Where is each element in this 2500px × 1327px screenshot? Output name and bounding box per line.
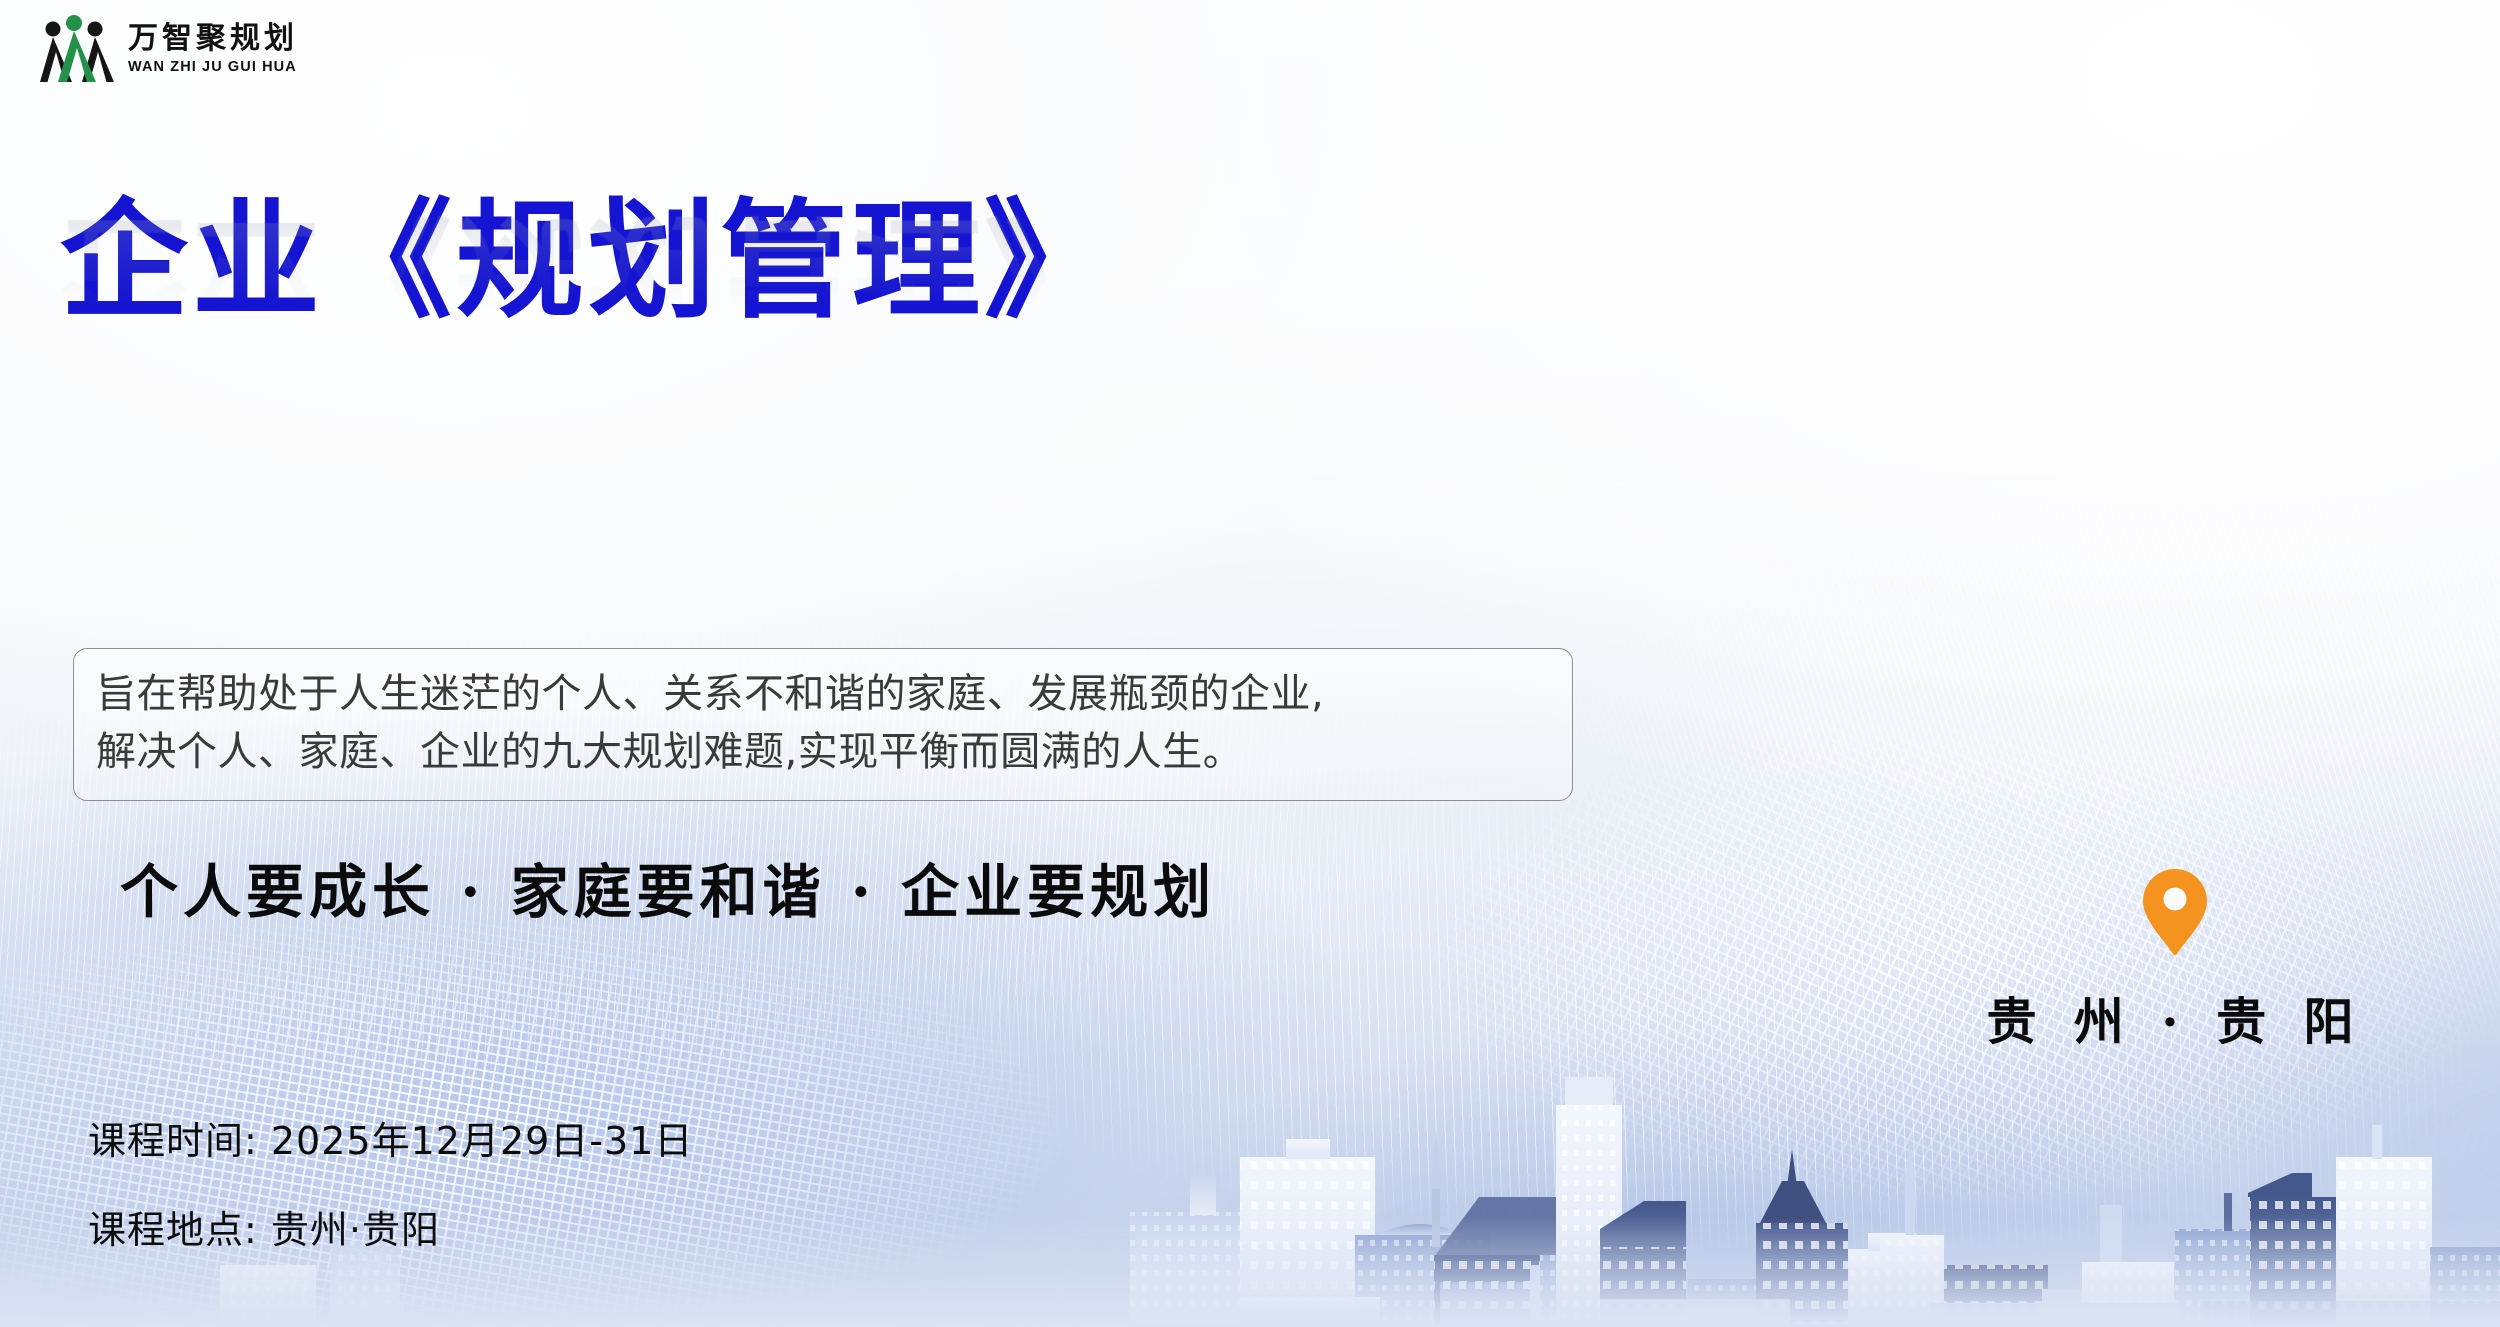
map-pin-icon bbox=[2142, 868, 2208, 956]
description-line-1: 旨在帮助处于人生迷茫的个人、关系不和谐的家庭、发展瓶颈的企业, bbox=[96, 665, 1550, 723]
brand-logo-text: 万智聚规划 WAN ZHI JU GUI HUA bbox=[128, 22, 298, 76]
brand-logo[interactable]: 万智聚规划 WAN ZHI JU GUI HUA bbox=[34, 14, 298, 84]
course-time: 课程时间: 2025年12月29日-31日 bbox=[88, 1110, 693, 1165]
three-people-logo-icon bbox=[34, 14, 114, 84]
location-label: 贵 州 · 贵 阳 bbox=[1960, 982, 2390, 1054]
description-box: 旨在帮助处于人生迷茫的个人、关系不和谐的家庭、发展瓶颈的企业, 解决个人、家庭、… bbox=[73, 648, 1573, 801]
description-line-2: 解决个人、家庭、企业的九大规划难题,实现平衡而圆满的人生。 bbox=[96, 723, 1550, 781]
poster-canvas: 万智聚规划 WAN ZHI JU GUI HUA 企业《规划管理》 企业《规划管… bbox=[0, 0, 2500, 1327]
hero-slogan: 个人要成长 · 家庭要和谐 · 企业要规划 bbox=[120, 845, 1216, 929]
course-place: 课程地点: 贵州·贵阳 bbox=[88, 1199, 693, 1254]
hero-title-block: 企业《规划管理》 企业《规划管理》 bbox=[60, 198, 1060, 528]
page-title-reflection: 企业《规划管理》 bbox=[60, 208, 1116, 336]
course-info: 课程时间: 2025年12月29日-31日 课程地点: 贵州·贵阳 bbox=[88, 1110, 693, 1254]
location-block: 贵 州 · 贵 阳 bbox=[1960, 868, 2390, 1054]
brand-name-en: WAN ZHI JU GUI HUA bbox=[128, 59, 298, 76]
brand-name-cn: 万智聚规划 bbox=[128, 22, 298, 56]
